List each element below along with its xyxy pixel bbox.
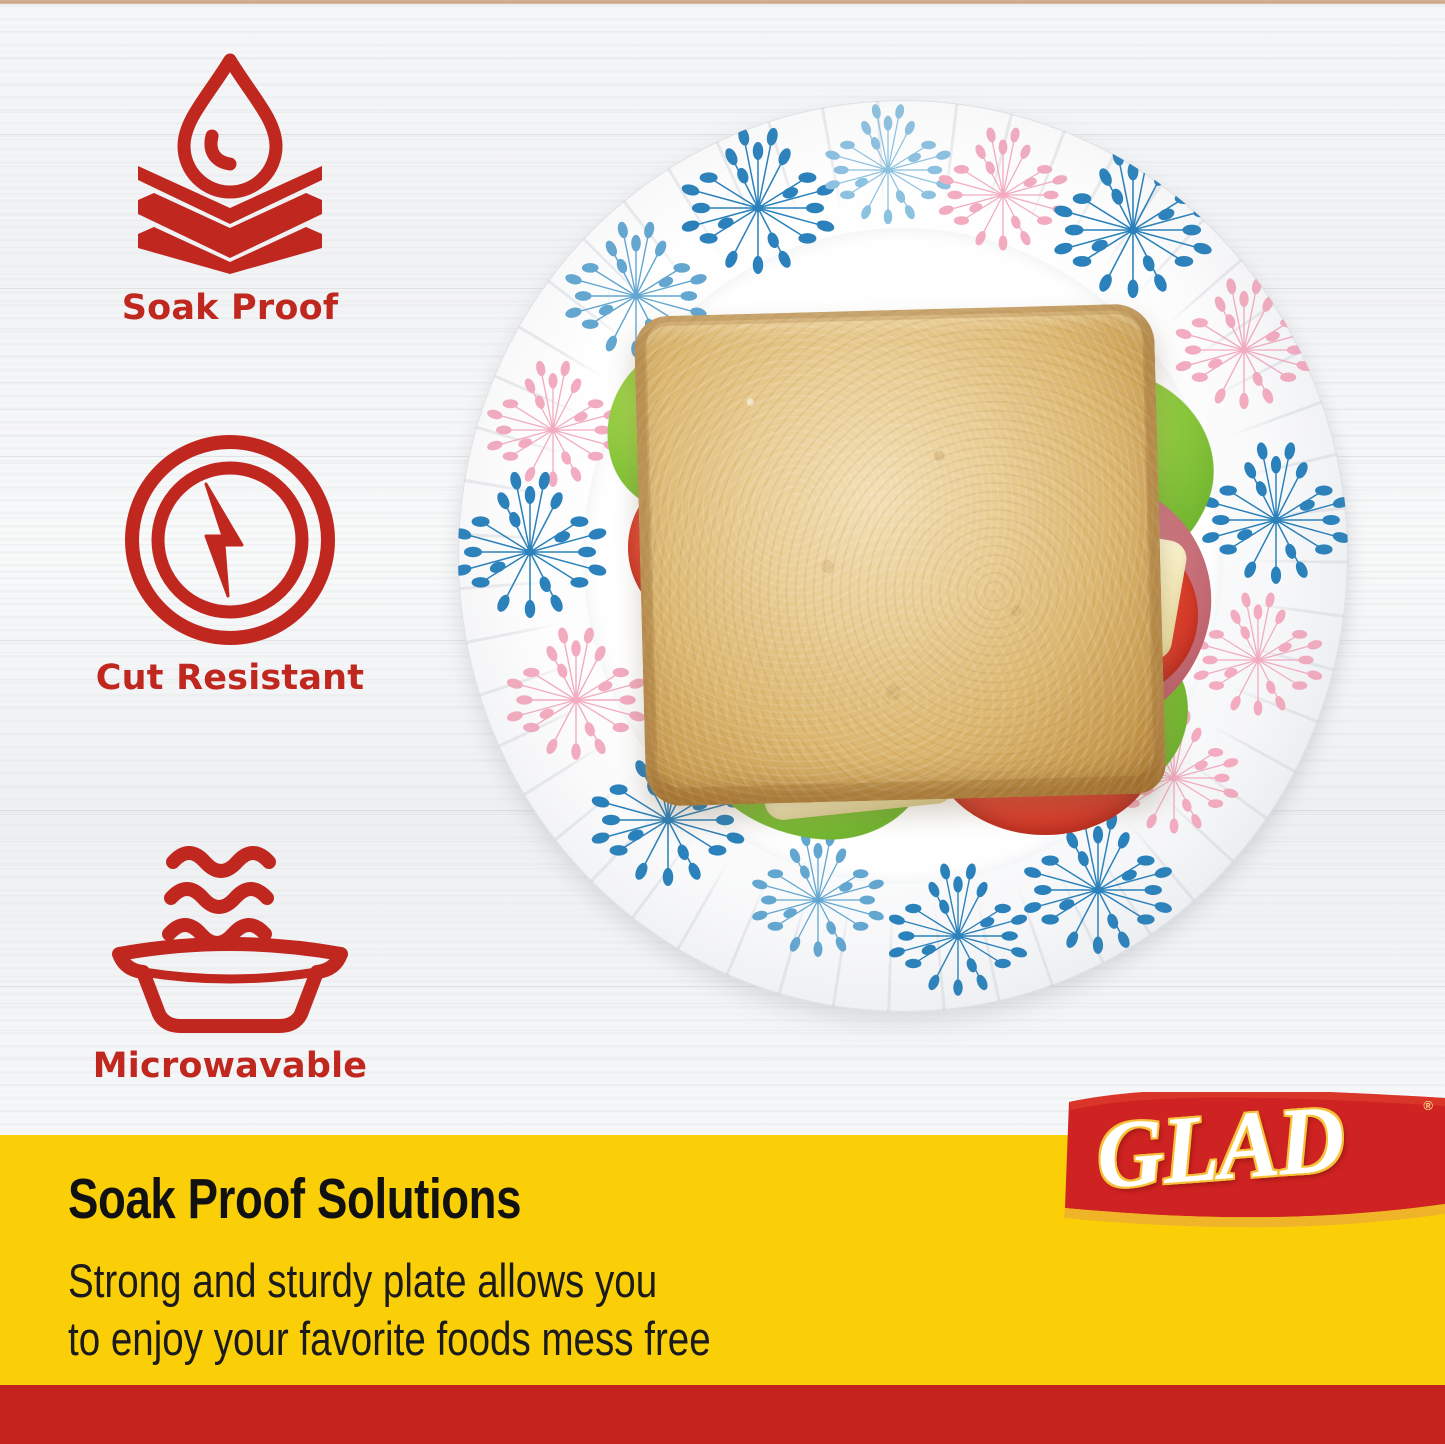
footer-headline: Soak Proof Solutions xyxy=(68,1171,521,1228)
sandwich xyxy=(600,280,1220,860)
registered-trademark-symbol: ® xyxy=(1423,1098,1433,1113)
toasted-bread-slice xyxy=(634,303,1167,806)
water-drop-on-layers-icon xyxy=(0,48,460,278)
feature-microwavable: Microwavable xyxy=(0,836,460,1086)
paper-plate xyxy=(458,100,1348,1012)
feature-soak-proof: Soak Proof xyxy=(0,48,460,328)
feature-list: Soak Proof Cut Resistant xyxy=(0,0,460,1130)
steaming-bowl-icon xyxy=(0,836,460,1036)
product-image-canvas: Soak Proof Cut Resistant xyxy=(0,0,1445,1444)
footer-body-text: Strong and sturdy plate allows you to en… xyxy=(68,1252,711,1369)
circle-lightning-bolt-icon xyxy=(0,432,460,648)
bread-crust xyxy=(634,303,1167,806)
footer-red-band xyxy=(0,1385,1445,1444)
feature-label-soak-proof: Soak Proof xyxy=(0,288,460,328)
feature-label-cut-resistant: Cut Resistant xyxy=(0,658,460,698)
feature-cut-resistant: Cut Resistant xyxy=(0,432,460,698)
feature-label-microwavable: Microwavable xyxy=(0,1046,460,1086)
glad-logo: GLAD ® xyxy=(1063,1092,1445,1228)
